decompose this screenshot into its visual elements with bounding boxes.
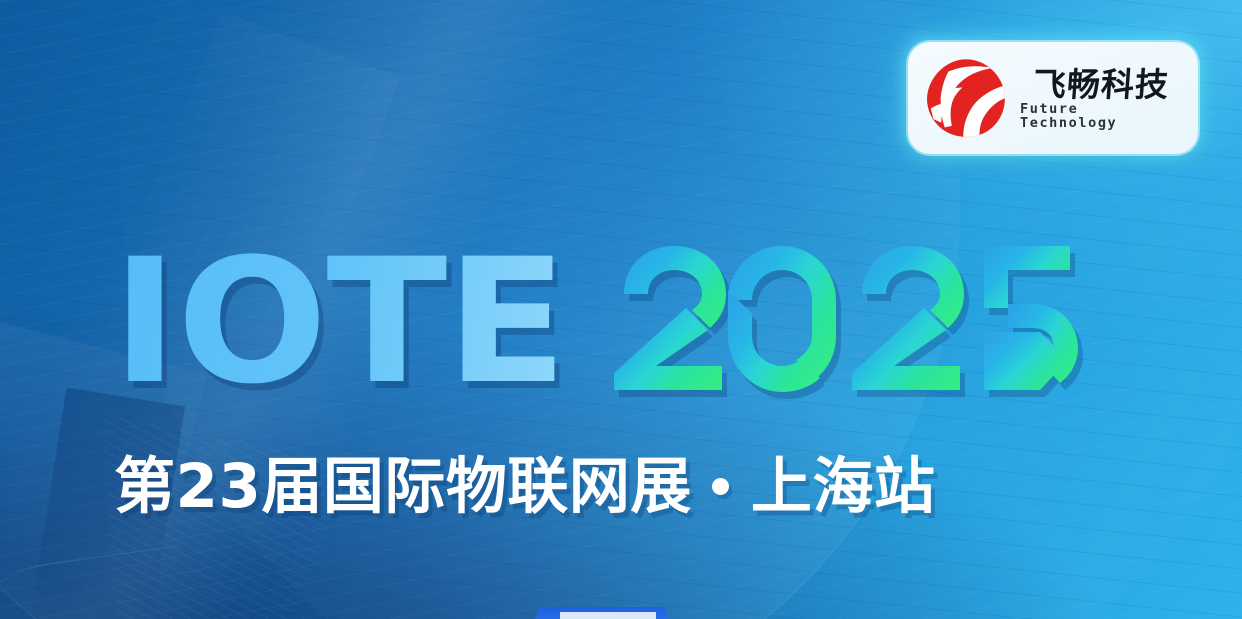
headline: IOTE xyxy=(112,236,553,408)
brand-wordmark-iote: IOTE xyxy=(112,236,566,408)
sponsor-name-en: Future Technology xyxy=(1020,103,1182,130)
event-subtitle: 第23届国际物联网展 上海站 xyxy=(114,456,935,517)
iote-2025-event-banner: 飞畅科技 Future Technology IOTE xyxy=(0,0,1242,619)
subtitle-right-text: 上海站 xyxy=(751,456,936,517)
sponsor-logo-card[interactable]: 飞畅科技 Future Technology xyxy=(908,42,1198,154)
sponsor-logo-text: 飞畅科技 Future Technology xyxy=(1020,66,1182,130)
year-wordmark-2025 xyxy=(612,244,1080,392)
sponsor-name-cn: 飞畅科技 xyxy=(1032,68,1170,101)
bottom-edge-glow xyxy=(560,612,656,619)
fc-sphere-logo-icon xyxy=(922,54,1010,142)
subtitle-left-text: 第23届国际物联网展 xyxy=(114,456,692,517)
subtitle-dot-separator xyxy=(712,478,729,495)
